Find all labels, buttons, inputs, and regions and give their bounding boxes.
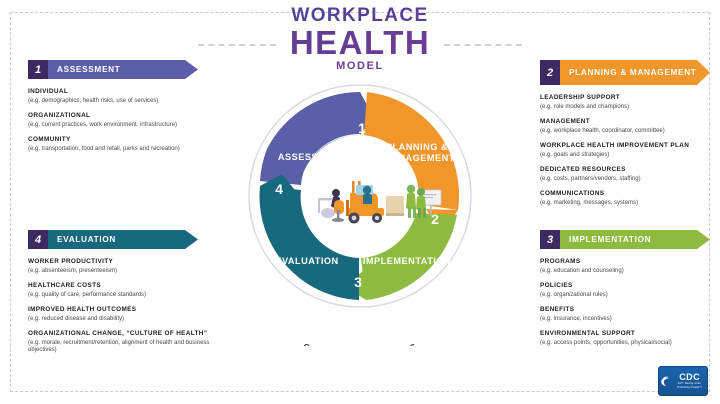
item-head: COMMUNICATIONS — [540, 190, 720, 198]
banner-label-assessment: ASSESSMENT — [57, 65, 120, 74]
wheel-label-assessment: ASSESSMENT — [278, 152, 346, 162]
list-evaluation: WORKER PRODUCTIVITY (e.g. absenteeism, p… — [28, 258, 218, 355]
wheel-number-2: 2 — [431, 211, 439, 227]
cycle-diagram: ASSESSMENT PLANNING & MANAGEMENT IMPLEME… — [246, 82, 474, 310]
wheel-label-planning-2: MANAGEMENT — [383, 153, 455, 163]
item-sub: (e.g. education and counseling) — [540, 268, 720, 276]
list-item: COMMUNICATIONS (e.g. marketing, messages… — [540, 190, 720, 207]
panel-assessment: 1 ASSESSMENT INDIVIDUAL (e.g. demographi… — [28, 60, 218, 160]
wheel-label-planning-1: PLANNING & — [386, 142, 448, 152]
cdc-wordmark: CDC 24/7: Saving Lives, Protecting Peopl… — [672, 373, 707, 388]
list-item: INDIVIDUAL (e.g. demographics, health ri… — [28, 88, 218, 105]
list-item: ORGANIZATIONAL CHANGE, “CULTURE OF HEALT… — [28, 330, 218, 355]
banner-number-evaluation: 4 — [28, 230, 48, 249]
cdc-eagle-icon — [659, 372, 670, 390]
title-rule-right — [444, 44, 522, 46]
list-item: DEDICATED RESOURCES (e.g. costs, partner… — [540, 166, 720, 183]
banner-implementation[interactable]: 3 IMPLEMENTATION — [540, 230, 710, 249]
item-sub: (e.g. costs, partners/vendors, staffing) — [540, 176, 720, 184]
list-item: ENVIRONMENTAL SUPPORT (e.g. access point… — [540, 330, 720, 347]
list-item: COMMUNITY (e.g. transportation, food and… — [28, 136, 218, 153]
item-sub: (e.g. marketing, messages, systems) — [540, 200, 720, 208]
wheel-number-4: 4 — [275, 181, 283, 197]
list-item: WORKER PRODUCTIVITY (e.g. absenteeism, p… — [28, 258, 218, 275]
list-assessment: INDIVIDUAL (e.g. demographics, health ri… — [28, 88, 218, 153]
item-head: MANAGEMENT — [540, 118, 720, 126]
item-sub: (e.g. access points, opportunities, phys… — [540, 340, 720, 348]
panel-implementation: 3 IMPLEMENTATION PROGRAMS (e.g. educatio… — [540, 230, 720, 354]
item-head: WORKER PRODUCTIVITY — [28, 258, 218, 266]
cdc-logo: CDC 24/7: Saving Lives, Protecting Peopl… — [658, 366, 708, 396]
item-sub: (e.g. morale, recruitment/retention, ali… — [28, 340, 218, 355]
item-head: BENEFITS — [540, 306, 720, 314]
title-line-health: HEALTH — [0, 26, 720, 59]
item-head: HEALTHCARE COSTS — [28, 282, 218, 290]
wheel-label-implementation: IMPLEMENTATION — [363, 256, 451, 266]
wheel-number-3: 3 — [354, 274, 362, 290]
list-item: HEALTHCARE COSTS (e.g. quality of care, … — [28, 282, 218, 299]
list-item: IMPROVED HEALTH OUTCOMES (e.g. reduced d… — [28, 306, 218, 323]
banner-number-assessment: 1 — [28, 60, 48, 79]
list-item: BENEFITS (e.g. insurance, incentives) — [540, 306, 720, 323]
list-item: ORGANIZATIONAL (e.g. current practices, … — [28, 112, 218, 129]
wheel-number-1: 1 — [358, 120, 366, 136]
item-sub: (e.g. role models and champions) — [540, 104, 720, 112]
panel-evaluation: 4 EVALUATION WORKER PRODUCTIVITY (e.g. a… — [28, 230, 218, 362]
item-head: PROGRAMS — [540, 258, 720, 266]
item-head: ORGANIZATIONAL CHANGE, “CULTURE OF HEALT… — [28, 330, 218, 338]
item-head: POLICIES — [540, 282, 720, 290]
cdc-tagline: 24/7: Saving Lives, Protecting People™ — [672, 382, 707, 388]
item-sub: (e.g. reduced disease and disability) — [28, 316, 218, 324]
item-head: IMPROVED HEALTH OUTCOMES — [28, 306, 218, 314]
item-sub: (e.g. workplace health, coordinator, com… — [540, 128, 720, 136]
item-sub: (e.g. absenteeism, presenteeism) — [28, 268, 218, 276]
item-head: COMMUNITY — [28, 136, 218, 144]
item-sub: (e.g. organizational rules) — [540, 292, 720, 300]
item-head: ORGANIZATIONAL — [28, 112, 218, 120]
title-line-workplace: WORKPLACE — [0, 6, 720, 25]
banner-evaluation[interactable]: 4 EVALUATION — [28, 230, 198, 249]
list-item: LEADERSHIP SUPPORT (e.g. role models and… — [540, 94, 720, 111]
title-rule-left — [198, 44, 276, 46]
banner-number-planning: 2 — [540, 60, 560, 85]
list-item: MANAGEMENT (e.g. workplace health, coord… — [540, 118, 720, 135]
item-sub: (e.g. goals and strategies) — [540, 152, 720, 160]
contextual-factors: CONTEXTUAL FACTORS (e.g. company size, c… — [240, 296, 480, 346]
item-head: WORKPLACE HEALTH IMPROVEMENT PLAN — [540, 142, 720, 150]
item-head: ENVIRONMENTAL SUPPORT — [540, 330, 720, 338]
item-sub: (e.g. quality of care, performance stand… — [28, 292, 218, 300]
banner-assessment[interactable]: 1 ASSESSMENT — [28, 60, 198, 79]
banner-planning-management[interactable]: 2 PLANNING & MANAGEMENT — [540, 60, 710, 85]
item-head: LEADERSHIP SUPPORT — [540, 94, 720, 102]
item-sub: (e.g. demographics, health risks, use of… — [28, 98, 218, 106]
wheel-label-evaluation: EVALUATION — [275, 256, 338, 266]
list-item: POLICIES (e.g. organizational rules) — [540, 282, 720, 299]
item-head: DEDICATED RESOURCES — [540, 166, 720, 174]
item-sub: (e.g. current practices, work environmen… — [28, 122, 218, 130]
list-implementation: PROGRAMS (e.g. education and counseling)… — [540, 258, 720, 347]
item-sub: (e.g. insurance, incentives) — [540, 316, 720, 324]
cdc-wordmark-text: CDC — [679, 372, 700, 382]
panel-planning-management: 2 PLANNING & MANAGEMENT LEADERSHIP SUPPO… — [540, 60, 720, 214]
banner-label-implementation: IMPLEMENTATION — [569, 235, 651, 244]
workplace-health-model-poster: WORKPLACE HEALTH MODEL 1 ASSESSMENT INDI… — [0, 0, 720, 404]
item-head: INDIVIDUAL — [28, 88, 218, 96]
list-planning: LEADERSHIP SUPPORT (e.g. role models and… — [540, 94, 720, 207]
banner-label-planning: PLANNING & MANAGEMENT — [569, 68, 697, 77]
banner-label-evaluation: EVALUATION — [57, 235, 116, 244]
list-item: WORKPLACE HEALTH IMPROVEMENT PLAN (e.g. … — [540, 142, 720, 159]
contextual-factors-title: CONTEXTUAL FACTORS — [301, 341, 419, 346]
list-item: PROGRAMS (e.g. education and counseling) — [540, 258, 720, 275]
banner-number-implementation: 3 — [540, 230, 560, 249]
item-sub: (e.g. transportation, food and retail, p… — [28, 146, 218, 154]
